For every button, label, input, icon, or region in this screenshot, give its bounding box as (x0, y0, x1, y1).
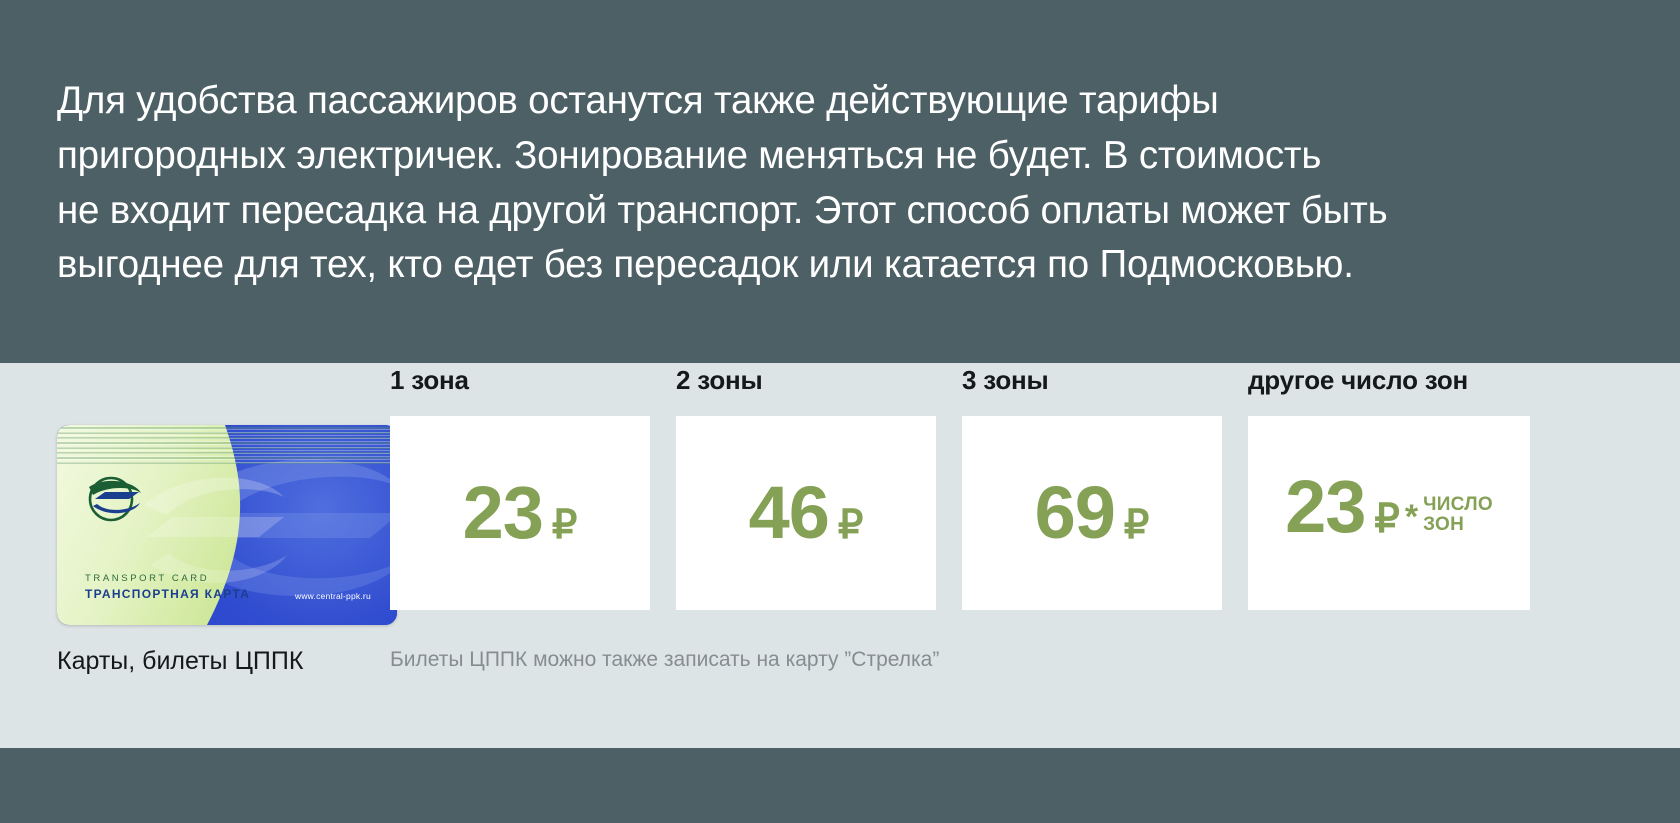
card-caption-ru: ТРАНСПОРТНАЯ КАРТА (85, 587, 250, 601)
ruble-sign-icon-1: ₽ (552, 505, 577, 545)
price-inner-1: 23 ₽ (463, 476, 578, 550)
price-inner-3: 69 ₽ (1035, 476, 1150, 550)
card-caption-en: TRANSPORT CARD (85, 573, 209, 584)
card-stripe-band-light (57, 429, 397, 463)
price-multiplier-line-2: ЗОН (1423, 515, 1493, 535)
price-box-2: 46 ₽ (676, 416, 936, 610)
zone-column-2: 2 зоны 46 ₽ (676, 363, 936, 610)
price-amount-1: 23 (463, 476, 543, 550)
price-multiplier-line-1: ЧИСЛО (1423, 495, 1493, 515)
card-website-url: www.central-ppk.ru (295, 591, 371, 601)
price-box-3: 69 ₽ (962, 416, 1222, 610)
ruble-sign-icon-3: ₽ (1124, 505, 1149, 545)
bottom-note: Билеты ЦППК можно также записать на карт… (390, 648, 939, 672)
card-label: Карты, билеты ЦППК (57, 647, 397, 676)
zone-title-3: 3 зоны (962, 363, 1222, 397)
body-area: TRANSPORT CARD ТРАНСПОРТНАЯ КАРТА www.ce… (0, 363, 1680, 748)
header-paragraph: Для удобства пассажиров останутся также … (0, 74, 1427, 293)
price-amount-3: 69 (1035, 476, 1115, 550)
ruble-sign-icon-4: ₽ (1374, 499, 1399, 539)
header-line-4: выгоднее для тех, кто едет без пересадок… (57, 238, 1387, 293)
zone-title-1: 1 зона (390, 363, 650, 397)
zone-title-2: 2 зоны (676, 363, 936, 397)
price-inner-4: 23 ₽ * ЧИСЛО ЗОН (1285, 470, 1493, 557)
footer-strip (0, 748, 1680, 823)
header-line-2: пригородных электричек. Зонирование меня… (57, 129, 1387, 184)
infographic-root: Для удобства пассажиров останутся также … (0, 0, 1680, 823)
transport-card-column: TRANSPORT CARD ТРАНСПОРТНАЯ КАРТА www.ce… (57, 425, 397, 676)
zone-column-4: другое число зон 23 ₽ * ЧИСЛО ЗОН (1248, 363, 1530, 610)
ppk-logo-icon (83, 473, 145, 525)
price-inner-2: 46 ₽ (749, 476, 864, 550)
zone-column-3: 3 зоны 69 ₽ (962, 363, 1222, 610)
zone-column-1: 1 зона 23 ₽ (390, 363, 650, 610)
header-line-1: Для удобства пассажиров останутся также … (57, 74, 1387, 129)
transport-card-image: TRANSPORT CARD ТРАНСПОРТНАЯ КАРТА www.ce… (57, 425, 397, 625)
price-box-1: 23 ₽ (390, 416, 650, 610)
header-band: Для удобства пассажиров останутся также … (0, 0, 1680, 363)
price-amount-4: 23 (1285, 470, 1365, 544)
header-line-3: не входит пересадка на другой транспорт.… (57, 184, 1387, 239)
zone-price-grid: 1 зона 23 ₽ 2 зоны 46 ₽ 3 (390, 363, 1630, 663)
ruble-sign-icon-2: ₽ (838, 505, 863, 545)
price-multiplier-label: ЧИСЛО ЗОН (1423, 495, 1493, 535)
price-amount-2: 46 (749, 476, 829, 550)
zone-title-4: другое число зон (1248, 363, 1530, 397)
asterisk-icon: * (1405, 500, 1418, 534)
price-box-4: 23 ₽ * ЧИСЛО ЗОН (1248, 416, 1530, 610)
